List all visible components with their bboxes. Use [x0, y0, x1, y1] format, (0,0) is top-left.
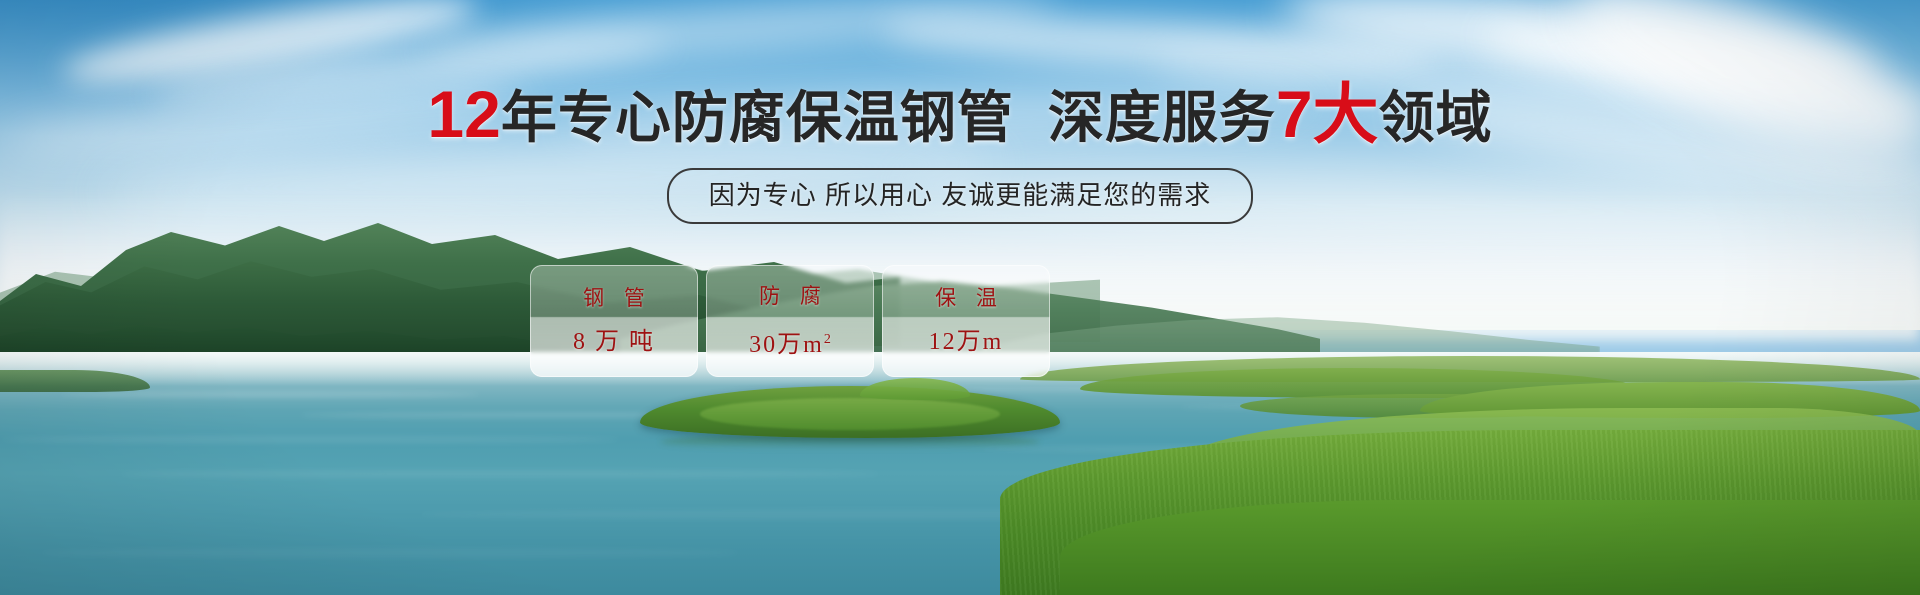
- stat-card-value: 12万m: [929, 327, 1004, 357]
- banner-subtitle-pill: 因为专心 所以用心 友诚更能满足您的需求: [667, 168, 1253, 224]
- banner-subtitle-wrapper: 因为专心 所以用心 友诚更能满足您的需求: [0, 168, 1920, 224]
- headline-service-phrase: 深度服务: [1048, 86, 1276, 149]
- stat-card-title: 保 温: [928, 285, 1004, 313]
- headline-fields-count: 7大: [1276, 77, 1379, 151]
- stat-card-title: 钢 管: [576, 285, 652, 313]
- stat-card-group: 钢 管 8 万 吨 防 腐 30万m2 保 温 12万m: [530, 265, 1050, 377]
- stat-card-value: 8 万 吨: [573, 327, 655, 357]
- headline-years-number: 12: [427, 77, 500, 151]
- stat-card-steel-pipe[interactable]: 钢 管 8 万 吨: [530, 265, 698, 377]
- headline-main-phrase: 年专心防腐保温钢管: [501, 86, 1014, 149]
- stat-card-value-text: 12万m: [929, 329, 1004, 355]
- hero-banner: 12年专心防腐保温钢管深度服务7大领域 因为专心 所以用心 友诚更能满足您的需求…: [0, 0, 1920, 595]
- stat-card-value-text: 8 万 吨: [573, 329, 655, 355]
- stat-card-anticorrosion[interactable]: 防 腐 30万m2: [706, 265, 874, 377]
- stat-card-value-text: 30万m: [749, 332, 824, 358]
- banner-headline: 12年专心防腐保温钢管深度服务7大领域: [0, 82, 1920, 150]
- stat-card-title: 防 腐: [752, 283, 828, 311]
- stat-card-value: 30万m2: [749, 325, 831, 360]
- stat-card-insulation[interactable]: 保 温 12万m: [882, 265, 1050, 377]
- banner-content: 12年专心防腐保温钢管深度服务7大领域 因为专心 所以用心 友诚更能满足您的需求…: [0, 0, 1920, 595]
- stat-card-value-superscript: 2: [824, 332, 831, 347]
- headline-fields-word: 领域: [1379, 86, 1493, 149]
